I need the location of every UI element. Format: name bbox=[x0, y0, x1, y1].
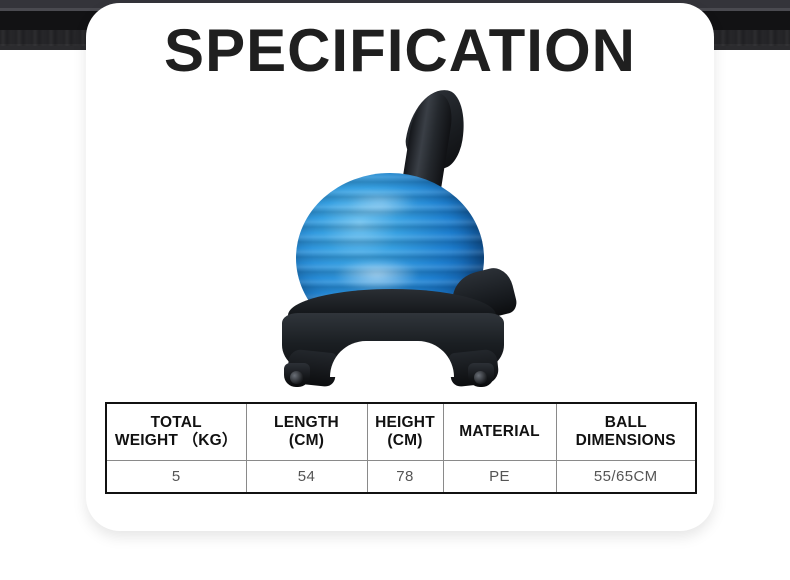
specification-table: TOTAL WEIGHT （KG） LENGTH (CM) HEIGHT (CM… bbox=[105, 402, 697, 494]
caster-wheel-left bbox=[284, 363, 310, 387]
header-line-2: (CM) bbox=[370, 432, 441, 449]
column-header-material: MATERIAL bbox=[443, 403, 556, 460]
column-header-length: LENGTH (CM) bbox=[246, 403, 367, 460]
header-line-2: (CM) bbox=[249, 432, 365, 449]
column-header-total-weight: TOTAL WEIGHT （KG） bbox=[106, 403, 246, 460]
table-row: 5 54 78 PE 55/65CM bbox=[106, 460, 696, 493]
header-line-1: TOTAL bbox=[109, 414, 244, 431]
cell-ball-dimensions: 55/65CM bbox=[556, 460, 696, 493]
screenshot-root: SPECIFICATION bbox=[0, 0, 790, 580]
header-line-2: WEIGHT （KG） bbox=[109, 432, 244, 449]
specification-card: SPECIFICATION bbox=[86, 3, 714, 531]
specification-table-wrapper: TOTAL WEIGHT （KG） LENGTH (CM) HEIGHT (CM… bbox=[105, 402, 695, 494]
cell-height: 78 bbox=[367, 460, 443, 493]
page-title: SPECIFICATION bbox=[86, 21, 714, 81]
caster-hub-left bbox=[290, 371, 303, 384]
table-header-row: TOTAL WEIGHT （KG） LENGTH (CM) HEIGHT (CM… bbox=[106, 403, 696, 460]
cell-total-weight: 5 bbox=[106, 460, 246, 493]
base-arch-cutout bbox=[330, 341, 454, 377]
caster-hub-right bbox=[474, 371, 487, 384]
caster-wheel-right bbox=[468, 363, 494, 387]
header-line-1: HEIGHT bbox=[370, 414, 441, 431]
cell-material: PE bbox=[443, 460, 556, 493]
ball-highlight-lower bbox=[334, 258, 420, 292]
product-image-ball-chair bbox=[246, 91, 556, 396]
column-header-height: HEIGHT (CM) bbox=[367, 403, 443, 460]
header-line-1: MATERIAL bbox=[446, 423, 554, 440]
cell-length: 54 bbox=[246, 460, 367, 493]
column-header-ball-dimensions: BALL DIMENSIONS bbox=[556, 403, 696, 460]
header-line-1: LENGTH bbox=[249, 414, 365, 431]
header-line-1: BALL bbox=[559, 414, 694, 431]
header-line-2: DIMENSIONS bbox=[559, 432, 694, 449]
